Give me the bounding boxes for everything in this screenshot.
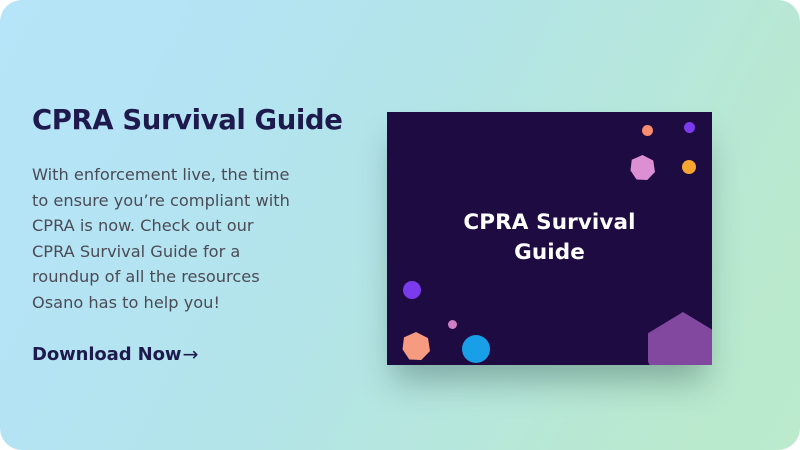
pink-dot-small [448, 320, 457, 329]
orchid-hexagon [630, 155, 655, 180]
card-title-line-2: Guide [514, 240, 585, 265]
purple-pentagon-house [648, 312, 712, 365]
card-title: CPRA Survival Guide [387, 208, 712, 268]
purple-circle-top [684, 122, 695, 133]
guide-cover-card[interactable]: CPRA Survival Guide [387, 112, 712, 365]
blue-circle [462, 335, 490, 363]
orange-circle [682, 160, 696, 174]
body-paragraph: With enforcement live, the time to ensur… [32, 137, 300, 316]
arrow-right-icon: → [182, 345, 198, 364]
page-title: CPRA Survival Guide [32, 104, 332, 137]
card-title-line-1: CPRA Survival [463, 210, 635, 235]
card-canvas: CPRA Survival Guide [387, 112, 712, 365]
text-column: CPRA Survival Guide With enforcement liv… [32, 104, 332, 365]
promo-banner: CPRA Survival Guide With enforcement liv… [0, 0, 800, 450]
download-now-link[interactable]: Download Now → [32, 344, 198, 365]
download-now-label: Download Now [32, 344, 181, 365]
salmon-circle-top [642, 125, 653, 136]
purple-circle-left [403, 281, 421, 299]
salmon-hexagon [402, 332, 430, 360]
